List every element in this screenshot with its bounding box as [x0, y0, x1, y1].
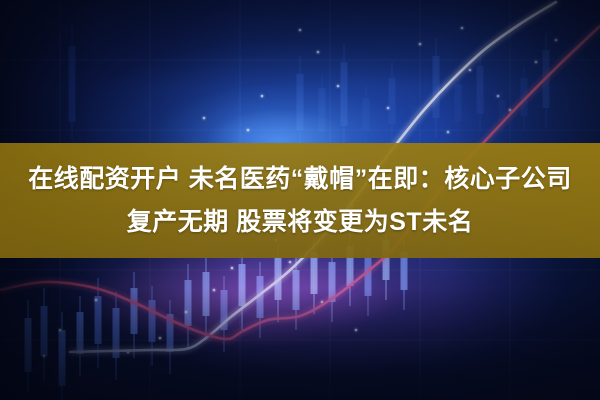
news-banner: 在线配资开户 未名医药“戴帽”在即：核心子公司 复产无期 股票将变更为ST未名	[0, 0, 600, 400]
headline-line-1: 在线配资开户 未名医药“戴帽”在即：核心子公司	[28, 158, 571, 201]
headline-band: 在线配资开户 未名医药“戴帽”在即：核心子公司 复产无期 股票将变更为ST未名	[0, 143, 600, 258]
headline-line-2: 复产无期 股票将变更为ST未名	[127, 201, 473, 244]
